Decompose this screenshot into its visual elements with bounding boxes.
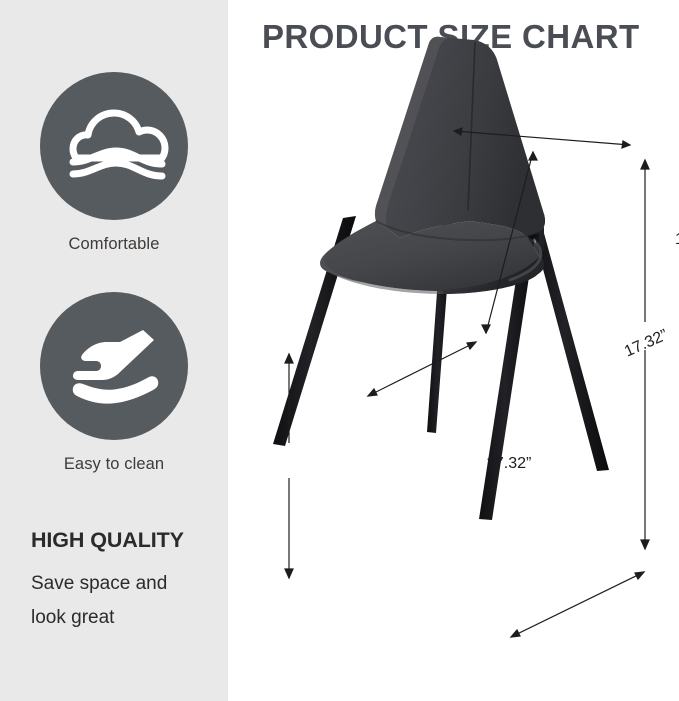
product-size-chart-page: Comfortable Easy to clean HIGH QUALITY S…	[0, 0, 679, 701]
wiping-hand-icon	[40, 292, 188, 440]
feature-badge	[40, 72, 188, 220]
product-illustration: 20.08” 14.96” 32.28” 17.32” 17.32” 22.05…	[228, 0, 679, 701]
chair-drawing	[228, 0, 679, 701]
chair-body	[320, 37, 545, 294]
feature-label: Easy to clean	[0, 455, 228, 474]
feature-easy-to-clean: Easy to clean	[0, 292, 228, 474]
dimension-backrest-height-label: 14.96”	[675, 231, 679, 249]
high-quality-block: HIGH QUALITY Save space and look great	[31, 528, 221, 635]
dimension-line-seat-depth	[368, 342, 476, 396]
feature-comfortable: Comfortable	[0, 72, 228, 254]
high-quality-line-2: look great	[31, 601, 221, 635]
high-quality-title: HIGH QUALITY	[31, 528, 221, 553]
feature-badge	[40, 292, 188, 440]
feature-sidebar: Comfortable Easy to clean HIGH QUALITY S…	[0, 0, 228, 701]
dimension-line-overall-depth	[511, 572, 644, 637]
cloud-outline-icon	[40, 72, 188, 220]
feature-label: Comfortable	[0, 235, 228, 254]
high-quality-line-1: Save space and	[31, 567, 221, 601]
dimension-seat-height-label: 17.32”	[486, 455, 531, 473]
